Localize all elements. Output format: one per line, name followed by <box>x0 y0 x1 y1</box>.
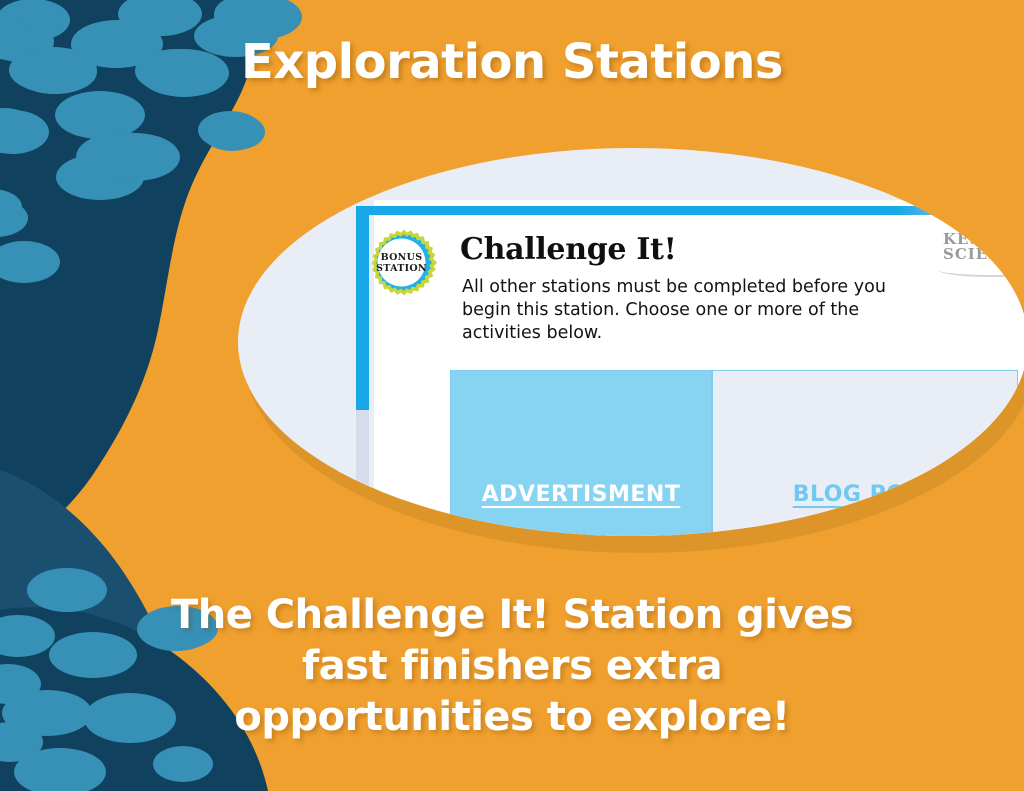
instruction-line-2: begin this station. Choose one or more o… <box>462 299 992 322</box>
instruction-line-3: activities below. <box>462 322 992 345</box>
caption-text: The Challenge It! Station gives fast fin… <box>0 590 1024 743</box>
badge-line-2: STATION <box>376 263 427 274</box>
activity-cell-row: ADVERTISMENT BLOG POST <box>450 370 1018 536</box>
activity-cell-blog-post[interactable]: BLOG POST <box>712 370 1018 536</box>
worksheet-image: BONUS STATION Challenge It! All other st… <box>238 148 1024 536</box>
activity-cell-advertisment[interactable]: ADVERTISMENT <box>450 370 712 536</box>
worksheet-heading: Challenge It! <box>460 232 677 267</box>
badge-line-1: BONUS <box>381 252 423 263</box>
caption-line-3: opportunities to explore! <box>0 692 1024 743</box>
slide-canvas: Exploration Stations BONUS <box>0 0 1024 791</box>
brand-line-2: SCIENCE <box>943 247 1024 262</box>
worksheet-instructions: All other stations must be completed bef… <box>462 276 992 345</box>
instruction-line-1: All other stations must be completed bef… <box>462 276 992 299</box>
page-title: Exploration Stations <box>0 34 1024 90</box>
activity-cell-label[interactable]: ADVERTISMENT <box>482 482 681 507</box>
worksheet-left-rule-lower <box>356 410 369 536</box>
worksheet-photo-frame: BONUS STATION Challenge It! All other st… <box>238 148 1024 536</box>
activity-cell-label[interactable]: BLOG POST <box>793 482 938 507</box>
badge-label: BONUS STATION <box>364 225 439 300</box>
worksheet-top-rule-fade <box>898 206 1024 215</box>
caption-line-1: The Challenge It! Station gives <box>0 590 1024 641</box>
bonus-station-badge: BONUS STATION <box>364 225 439 300</box>
kesler-science-logo: KESLER SCIENCE <box>943 232 1024 262</box>
caption-line-2: fast finishers extra <box>0 641 1024 692</box>
